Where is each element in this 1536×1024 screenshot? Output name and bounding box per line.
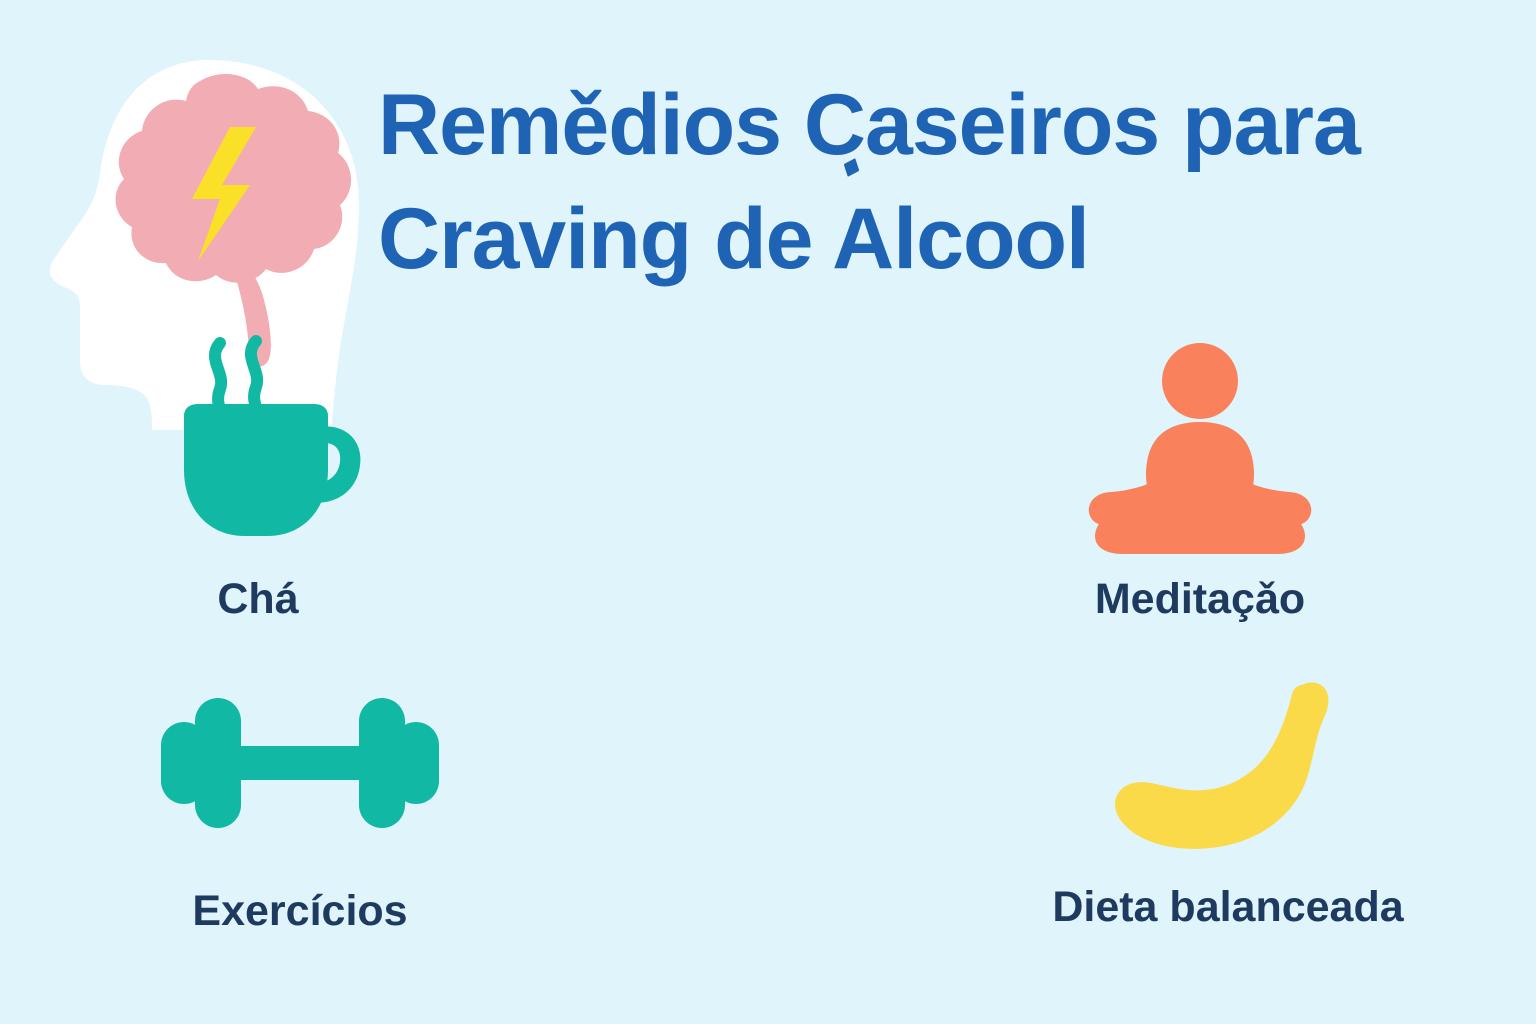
teacup-icon [168,310,368,550]
page-title: Remědios Caseiros para Craving de Alcool [378,68,1468,296]
banana-icon [1098,672,1358,858]
item-tea-label: Chá [78,578,438,621]
item-diet-label: Dieta balanceada [1028,886,1428,929]
item-diet[interactable]: Dieta balanceada [1028,672,1428,929]
item-exercise-label: Exercícios [120,890,480,933]
infographic-canvas: Remědios Caseiros para Craving de Alcool [0,0,1536,1024]
cup-body-shape [184,404,328,536]
item-meditation[interactable]: Meditaçǎo [1020,340,1380,621]
page-title-line-2: Craving de Alcool [378,182,1468,296]
dumbbell-right-outer-plate [393,722,439,804]
page-title-line-1: Remědios Caseiros para [378,68,1468,182]
item-exercise[interactable]: Exercícios [120,688,480,933]
item-tea[interactable]: Chá [78,578,438,621]
meditation-lotus-icon [1077,340,1323,556]
item-meditation-label: Meditaçǎo [1020,578,1380,621]
dumbbell-icon [155,688,445,838]
dumbbell-bar [227,746,373,780]
